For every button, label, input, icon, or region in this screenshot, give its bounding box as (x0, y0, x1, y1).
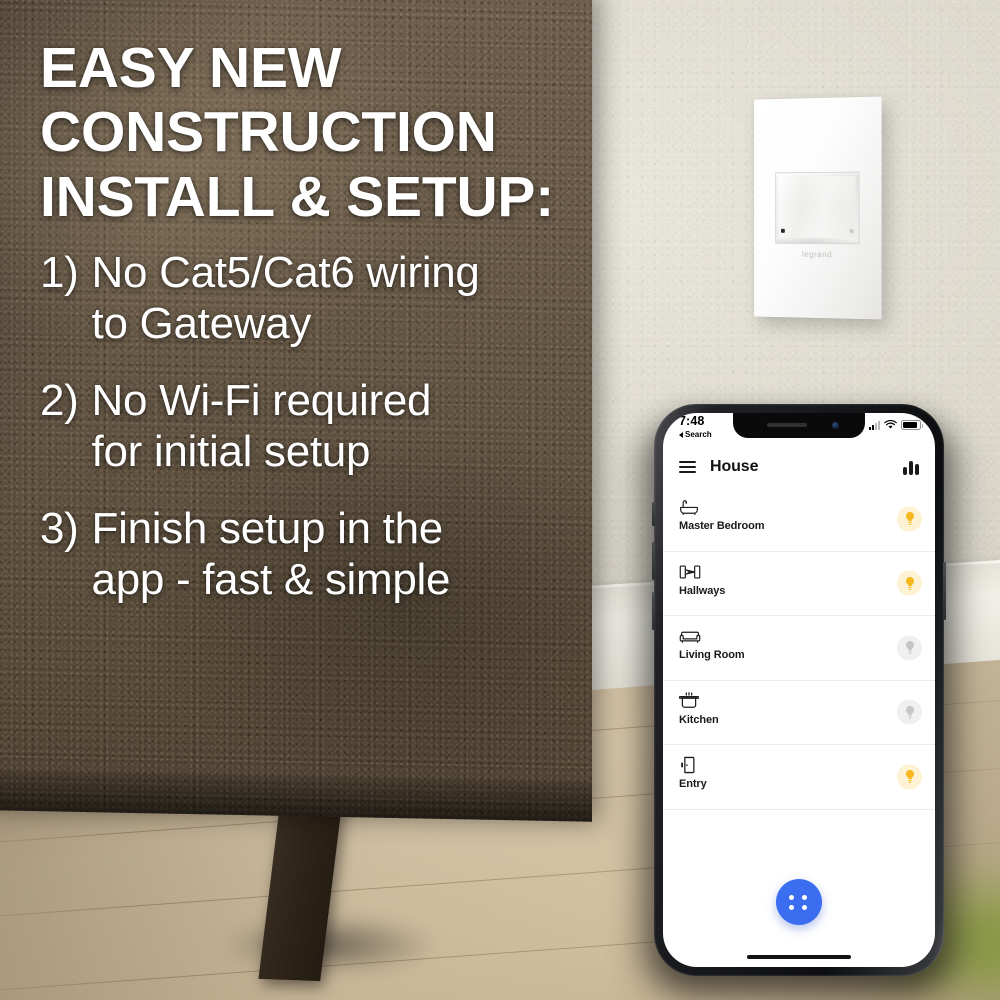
bar-chart-icon[interactable] (903, 460, 919, 475)
list-item: 3) Finish setup in the app - fast & simp… (40, 503, 580, 605)
app-title: House (710, 458, 758, 476)
legrand-brand-label: legrand (754, 249, 882, 259)
step-line: Finish setup in the (92, 503, 580, 554)
app-header: House (663, 447, 935, 487)
headline-line: CONSTRUCTION (40, 100, 580, 164)
room-name: Hallways (679, 585, 919, 597)
step-line: to Gateway (92, 298, 580, 349)
status-bar-left: 7:48 Search (679, 415, 712, 439)
step-number: 2) (40, 375, 79, 477)
mute-switch[interactable] (652, 502, 655, 526)
front-camera (832, 422, 839, 429)
wall-switch-paddle[interactable] (779, 176, 856, 239)
step-line: No Cat5/Cat6 wiring (92, 247, 580, 298)
phone-notch (733, 413, 865, 438)
status-time: 7:48 (679, 415, 712, 428)
status-bar-right (869, 420, 921, 430)
wall-switch-housing (775, 172, 859, 245)
lightbulb-icon[interactable] (897, 764, 922, 789)
volume-up-button[interactable] (652, 542, 655, 580)
room-name: Kitchen (679, 714, 919, 726)
list-item: 1) No Cat5/Cat6 wiring to Gateway (40, 247, 580, 349)
back-to-search-label: Search (685, 431, 712, 439)
list-item[interactable]: Hallways (663, 552, 935, 617)
steps-list: 1) No Cat5/Cat6 wiring to Gateway 2) No … (40, 247, 580, 605)
volume-down-button[interactable] (652, 592, 655, 630)
earpiece-speaker (767, 423, 807, 427)
page-title: EASY NEW CONSTRUCTION INSTALL & SETUP: (40, 36, 580, 229)
back-arrow-icon (679, 432, 683, 438)
sofa-icon (679, 626, 919, 646)
switch-led-indicator (781, 229, 785, 233)
power-button[interactable] (943, 562, 946, 620)
door-icon (679, 755, 919, 775)
hamburger-menu-icon[interactable] (679, 461, 696, 473)
room-name: Living Room (679, 649, 919, 661)
lightbulb-icon[interactable] (897, 700, 922, 725)
room-name: Entry (679, 778, 919, 790)
phone-screen: 7:48 Search (663, 413, 935, 967)
lightbulb-icon[interactable] (897, 635, 922, 660)
hallway-icon (679, 562, 919, 582)
smartphone-mockup: 7:48 Search (654, 404, 944, 976)
grid-dots-icon[interactable] (776, 879, 822, 925)
cooking-pot-icon (679, 691, 919, 711)
headline-line: INSTALL & SETUP: (40, 165, 580, 229)
list-item: 2) No Wi-Fi required for initial setup (40, 375, 580, 477)
room-name: Master Bedroom (679, 520, 919, 532)
wifi-icon (884, 420, 897, 430)
bathtub-icon (679, 497, 919, 517)
step-text: No Cat5/Cat6 wiring to Gateway (92, 247, 580, 349)
step-number: 1) (40, 247, 79, 349)
list-item[interactable]: Living Room (663, 616, 935, 681)
phone-frame: 7:48 Search (654, 404, 944, 976)
step-line: app - fast & simple (92, 554, 580, 605)
step-line: No Wi-Fi required (92, 375, 580, 426)
home-indicator[interactable] (747, 955, 851, 959)
battery-icon (901, 420, 921, 430)
lightbulb-icon[interactable] (897, 506, 922, 531)
step-number: 3) (40, 503, 79, 605)
headline-line: EASY NEW (40, 36, 580, 100)
step-line: for initial setup (92, 426, 580, 477)
furniture-leg-shadow (180, 900, 480, 990)
lightbulb-icon[interactable] (897, 571, 922, 596)
promo-graphic: legrand EASY NEW CONSTRUCTION INSTALL & … (0, 0, 1000, 1000)
list-item[interactable]: Kitchen (663, 681, 935, 746)
list-item[interactable]: Master Bedroom (663, 487, 935, 552)
list-item[interactable]: Entry (663, 745, 935, 810)
back-to-search-link[interactable]: Search (679, 431, 712, 439)
step-text: No Wi-Fi required for initial setup (92, 375, 580, 477)
room-list: Master Bedroom (663, 487, 935, 810)
promo-text-block: EASY NEW CONSTRUCTION INSTALL & SETUP: 1… (40, 36, 580, 631)
switch-sensor-dot (850, 229, 854, 233)
step-text: Finish setup in the app - fast & simple (92, 503, 580, 605)
cellular-signal-icon (869, 421, 880, 430)
wall-switch-plate[interactable]: legrand (754, 96, 882, 319)
